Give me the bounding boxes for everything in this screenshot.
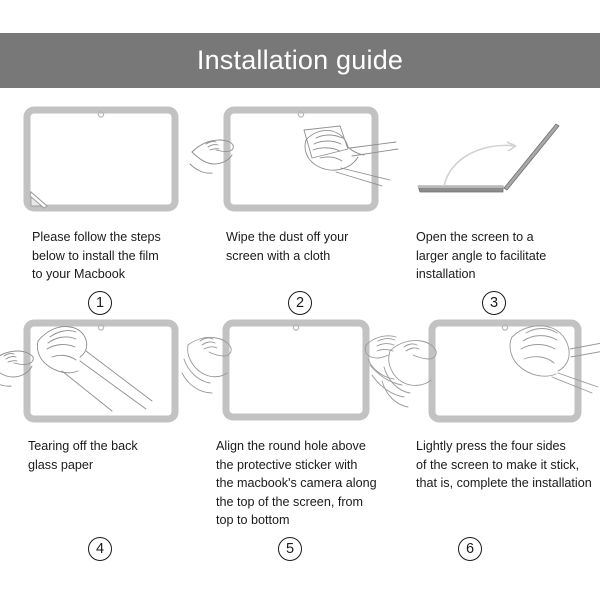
step-caption: Please follow the steps below to install…	[32, 228, 200, 284]
step-item: Tearing off the back glass paper 4	[0, 315, 200, 565]
step-number-badge: 2	[288, 291, 312, 315]
step-number-badge: 6	[458, 537, 482, 561]
step-item: Please follow the steps below to install…	[0, 100, 200, 315]
step-6-illustration	[400, 315, 600, 427]
step-caption: Align the round hole above the protectiv…	[216, 437, 402, 530]
step-item: Align the round hole above the protectiv…	[200, 315, 400, 565]
step-caption: Wipe the dust off your screen with a clo…	[226, 228, 396, 265]
step-1-illustration	[0, 100, 200, 212]
header-bar: Installation guide	[0, 33, 600, 88]
step-4-illustration	[0, 315, 200, 427]
step-caption: Open the screen to a larger angle to fac…	[416, 228, 594, 284]
step-2-illustration	[200, 100, 400, 212]
installation-guide-page: Installation guide Please follow the ste…	[0, 0, 600, 600]
step-number-badge: 4	[88, 537, 112, 561]
step-item: Open the screen to a larger angle to fac…	[400, 100, 600, 315]
step-item: Wipe the dust off your screen with a clo…	[200, 100, 400, 315]
page-title: Installation guide	[197, 47, 403, 74]
step-number-badge: 5	[278, 537, 302, 561]
step-caption: Lightly press the four sides of the scre…	[416, 437, 600, 493]
step-caption: Tearing off the back glass paper	[28, 437, 198, 474]
steps-grid: Please follow the steps below to install…	[0, 100, 600, 590]
step-number-badge: 3	[482, 291, 506, 315]
step-number-badge: 1	[88, 291, 112, 315]
step-5-illustration	[200, 315, 400, 427]
step-3-illustration	[400, 100, 600, 212]
step-item: Lightly press the four sides of the scre…	[400, 315, 600, 565]
